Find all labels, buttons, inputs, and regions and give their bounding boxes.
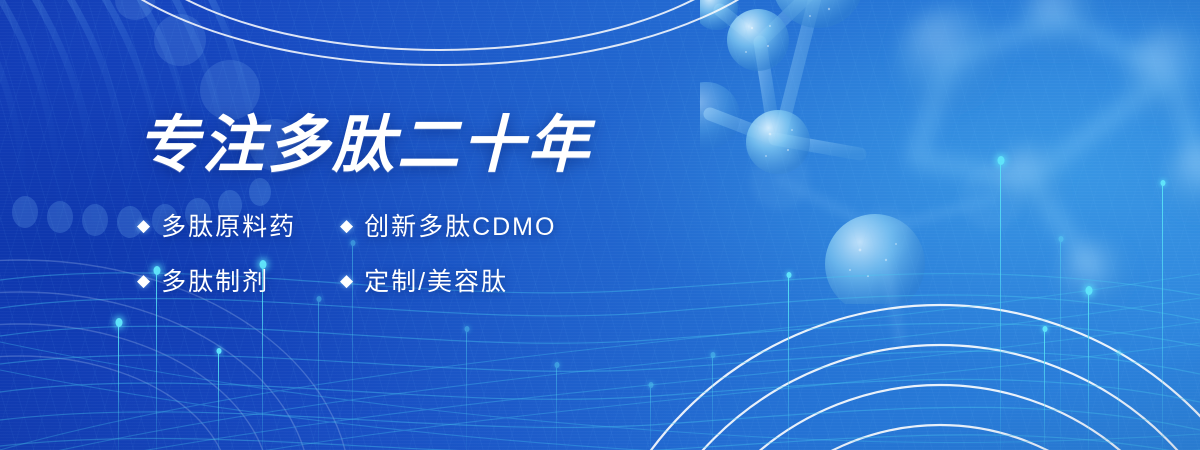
diamond-bullet-icon: ◆ (137, 217, 150, 234)
feature-label: 定制/美容肽 (364, 262, 508, 298)
pin-marker (218, 352, 219, 450)
feature-label: 多肽制剂 (161, 262, 269, 298)
pin-marker (1162, 184, 1163, 450)
diamond-bullet-icon: ◆ (340, 272, 353, 289)
pin-marker (1044, 330, 1045, 450)
banner-content: 专注多肽二十年 ◆ 多肽原料药 ◆ 创新多肽CDMO ◆ 多肽制剂 ◆ (137, 112, 777, 317)
feature-row: ◆ 多肽制剂 ◆ 定制/美容肽 (137, 262, 777, 298)
pin-marker (1060, 240, 1061, 450)
feature-item-peptide-formulation: ◆ 多肽制剂 (137, 262, 340, 298)
feature-label: 创新多肽CDMO (364, 207, 556, 243)
pin-marker (712, 356, 713, 450)
pin-marker (1000, 160, 1001, 450)
pin-marker (1118, 354, 1119, 450)
pin-marker (556, 366, 557, 450)
arc-lines-top (60, 0, 820, 90)
pin-marker (1088, 290, 1089, 450)
page-title: 专注多肽二十年 (137, 112, 777, 177)
diamond-bullet-icon: ◆ (340, 217, 353, 234)
feature-list: ◆ 多肽原料药 ◆ 创新多肽CDMO ◆ 多肽制剂 ◆ 定制/美容肽 (137, 207, 777, 298)
pin-marker (650, 386, 651, 450)
pin-marker (466, 330, 467, 450)
feature-item-peptide-api: ◆ 多肽原料药 (137, 207, 340, 243)
pin-marker (788, 276, 789, 450)
peptide-hero-banner: 专注多肽二十年 ◆ 多肽原料药 ◆ 创新多肽CDMO ◆ 多肽制剂 ◆ (0, 0, 1200, 450)
feature-row: ◆ 多肽原料药 ◆ 创新多肽CDMO (137, 207, 777, 243)
pin-marker (318, 300, 319, 450)
diamond-bullet-icon: ◆ (137, 272, 150, 289)
feature-label: 多肽原料药 (161, 207, 296, 243)
feature-item-custom-cosmetic-peptide: ◆ 定制/美容肽 (340, 262, 508, 298)
feature-item-peptide-cdmo: ◆ 创新多肽CDMO (340, 207, 556, 243)
pin-marker (118, 322, 119, 450)
